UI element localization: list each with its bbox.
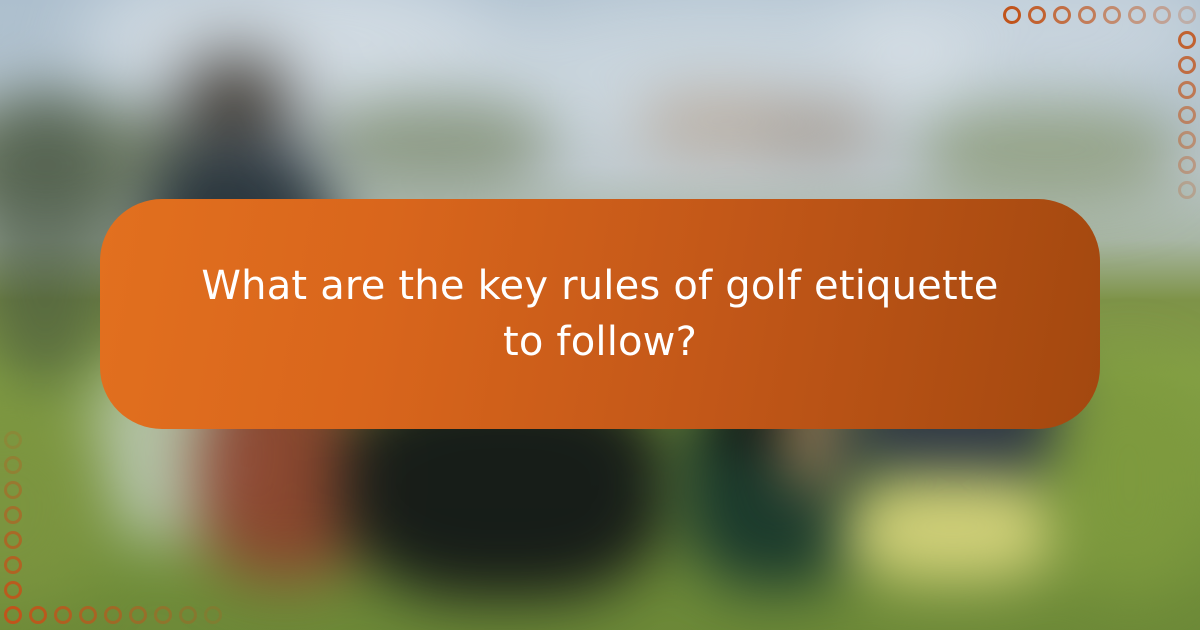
poster-canvas: What are the key rules of golf etiquette… (0, 0, 1200, 630)
decorative-ring (4, 556, 22, 574)
dot-grid-top-right (1000, 0, 1200, 200)
decorative-ring (1103, 6, 1121, 24)
decorative-ring (4, 531, 22, 549)
decorative-ring (129, 606, 147, 624)
dot-grid-bottom-left (0, 430, 225, 630)
decorative-ring (4, 506, 22, 524)
treeline-shape (320, 100, 550, 190)
decorative-ring (1153, 6, 1171, 24)
golfer-silhouette (0, 90, 110, 390)
decorative-ring (1178, 31, 1196, 49)
decorative-ring (104, 606, 122, 624)
decorative-ring (1178, 6, 1196, 24)
decorative-ring (1128, 6, 1146, 24)
decorative-ring (4, 481, 22, 499)
golfer-trousers-shape (845, 480, 1060, 580)
decorative-ring (179, 606, 197, 624)
question-title: What are the key rules of golf etiquette… (190, 258, 1010, 370)
decorative-ring (79, 606, 97, 624)
decorative-ring (1003, 6, 1021, 24)
decorative-ring (1053, 6, 1071, 24)
decorative-ring (1178, 181, 1196, 199)
decorative-ring (1178, 81, 1196, 99)
decorative-ring (4, 581, 22, 599)
decorative-ring (4, 431, 22, 449)
decorative-ring (1178, 131, 1196, 149)
decorative-ring (154, 606, 172, 624)
decorative-ring (29, 606, 47, 624)
decorative-ring (54, 606, 72, 624)
question-card: What are the key rules of golf etiquette… (100, 199, 1100, 429)
decorative-ring (1178, 156, 1196, 174)
decorative-ring (1178, 106, 1196, 124)
decorative-ring (204, 606, 222, 624)
decorative-ring (4, 456, 22, 474)
decorative-ring (1178, 56, 1196, 74)
decorative-ring (1078, 6, 1096, 24)
decorative-ring (4, 606, 22, 624)
decorative-ring (1028, 6, 1046, 24)
building-shape (760, 100, 880, 162)
